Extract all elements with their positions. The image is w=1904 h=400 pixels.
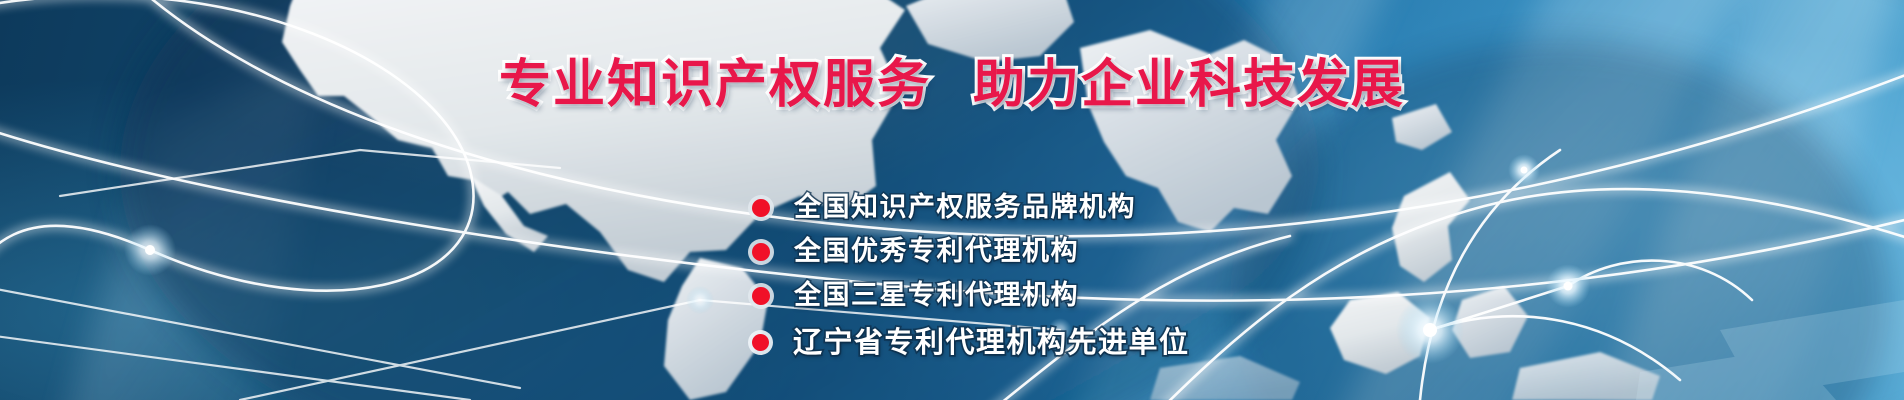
credentials-list: 全国知识产权服务品牌机构 全国优秀专利代理机构 全国三星专利代理机构 辽宁省专利… [752,186,1190,366]
list-item-label: 辽宁省专利代理机构先进单位 [793,325,1190,359]
list-item-label: 全国三星专利代理机构 [794,280,1079,312]
bullet-dot-icon [752,199,770,217]
headline-part-1: 专业知识产权服务 [499,55,931,115]
bullet-dot-icon [752,287,770,305]
bullet-dot-icon [752,243,770,261]
list-item-label: 全国知识产权服务品牌机构 [794,192,1136,224]
list-item-label: 全国优秀专利代理机构 [794,236,1079,268]
list-item: 全国三星专利代理机构 [752,274,1190,318]
list-item: 全国优秀专利代理机构 [752,230,1190,274]
tech-panels [1636,300,1904,400]
banner-headline: 专业知识产权服务助力企业科技发展 [0,55,1904,115]
list-item: 辽宁省专利代理机构先进单位 [752,318,1190,366]
headline-part-2: 助力企业科技发展 [973,55,1405,115]
list-item: 全国知识产权服务品牌机构 [752,186,1190,230]
promo-banner: 专业知识产权服务助力企业科技发展 全国知识产权服务品牌机构 全国优秀专利代理机构… [0,0,1904,400]
bullet-dot-icon [752,334,769,351]
